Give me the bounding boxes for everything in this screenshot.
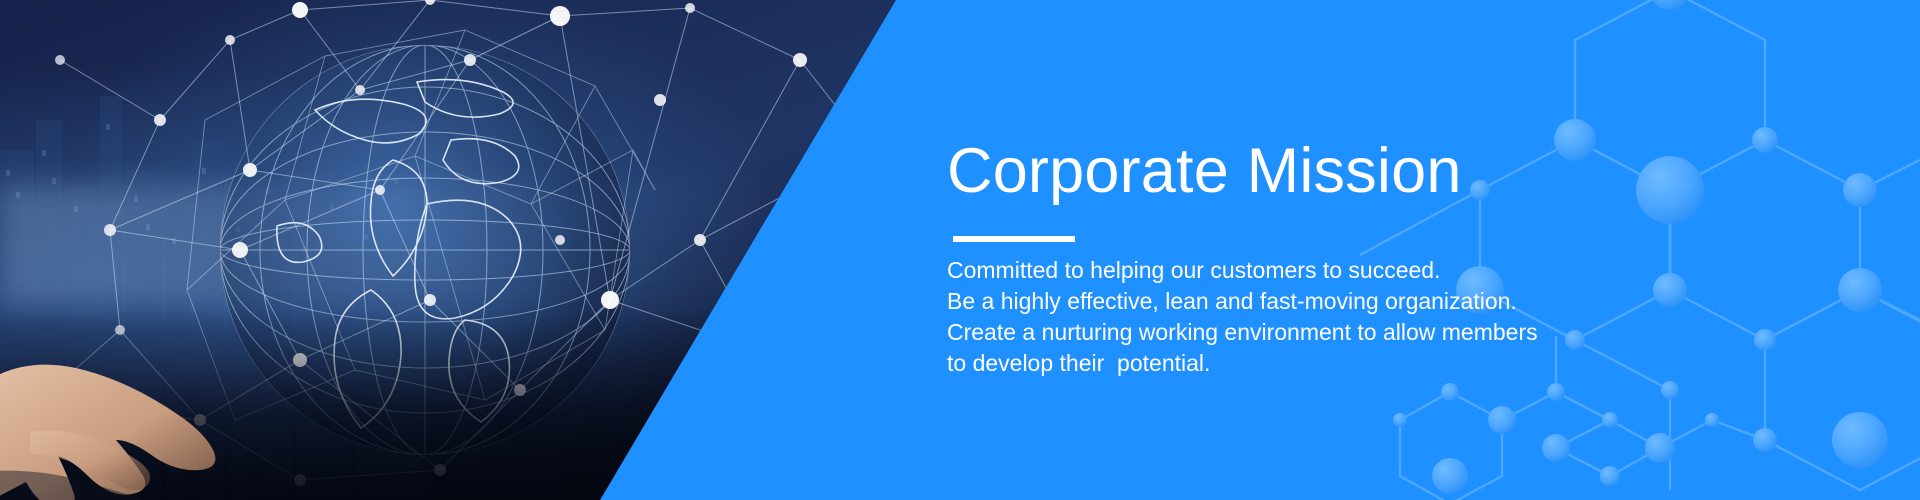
mission-line-1: Committed to helping our customers to su… [947, 255, 1677, 286]
corporate-mission-banner: Corporate Mission Committed to helping o… [0, 0, 1920, 500]
page-title: Corporate Mission [947, 140, 1462, 203]
mission-line-2: Be a highly effective, lean and fast-mov… [947, 286, 1677, 317]
hand-silhouette-icon [0, 236, 360, 500]
mission-statement: Committed to helping our customers to su… [947, 255, 1677, 379]
title-divider-rule [953, 236, 1075, 242]
mission-line-3: Create a nurturing working environment t… [947, 317, 1677, 348]
banner-content: Corporate Mission Committed to helping o… [947, 0, 1747, 500]
mission-line-4: to develop their potential. [947, 348, 1677, 379]
globe-network-photo [0, 0, 900, 500]
